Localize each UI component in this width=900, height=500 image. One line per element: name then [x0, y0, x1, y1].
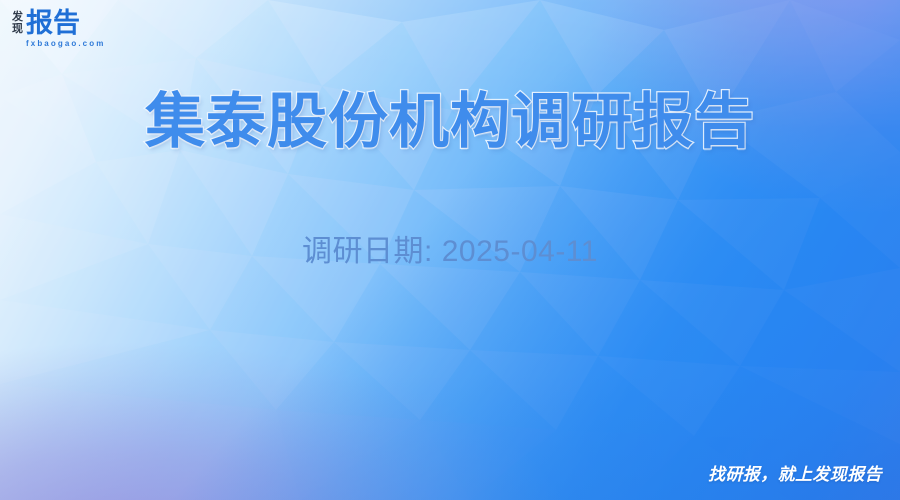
logo-mark-line-1: 发 — [12, 11, 23, 23]
brand-slogan: 找研报，就上发现报告 — [708, 464, 882, 486]
survey-date-subtitle: 调研日期: 2025-04-11 — [0, 232, 900, 272]
logo-mark-line-2: 现 — [12, 23, 23, 35]
logo-wordmark: 报告 — [26, 9, 105, 37]
brand-logo[interactable]: 发 现 报告 fxbaogao.com — [12, 9, 105, 49]
headline-block: 集泰股份机构调研报告 — [0, 86, 900, 158]
page-title: 集泰股份机构调研报告 — [0, 86, 900, 158]
logo-text-group: 报告 fxbaogao.com — [26, 9, 105, 49]
report-cover: 发 现 报告 fxbaogao.com 集泰股份机构调研报告 调研日期: 202… — [0, 0, 900, 500]
logo-mark: 发 现 — [12, 9, 23, 35]
logo-website-url: fxbaogao.com — [26, 38, 105, 49]
